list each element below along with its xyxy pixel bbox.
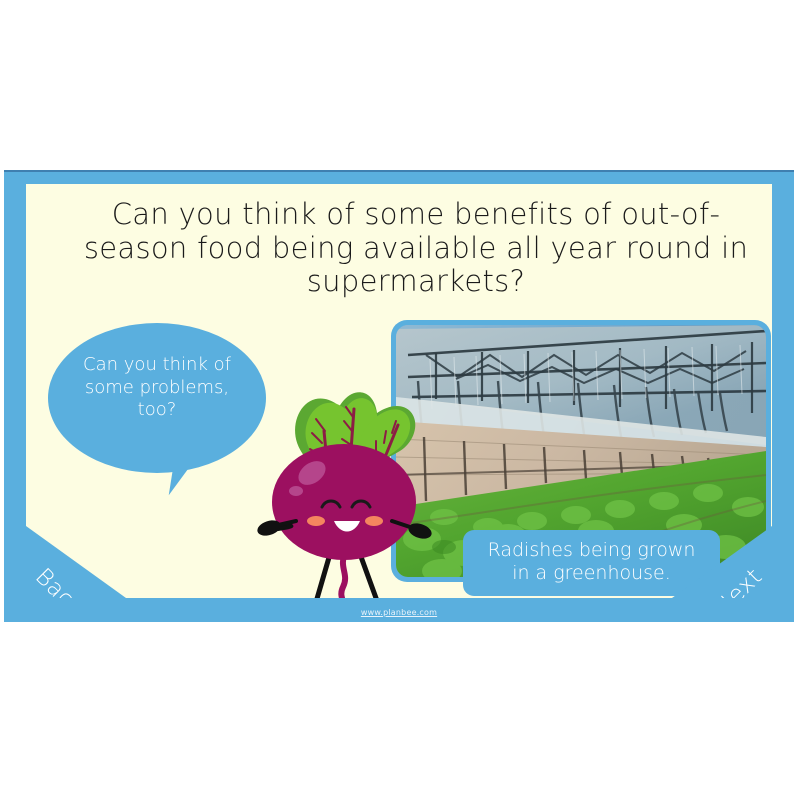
back-button[interactable]: Back <box>26 526 126 598</box>
slide-content-area: Can you think of some benefits of out-of… <box>26 184 772 598</box>
speech-bubble-text: Can you think of some problems, too? <box>62 354 252 422</box>
radish-character <box>234 369 454 598</box>
watermark-link[interactable]: www.planbee.com <box>4 608 794 617</box>
page-title: Can you think of some benefits of out-of… <box>66 198 766 299</box>
slide-frame: Can you think of some benefits of out-of… <box>4 170 794 622</box>
next-button[interactable]: Next <box>672 526 772 598</box>
